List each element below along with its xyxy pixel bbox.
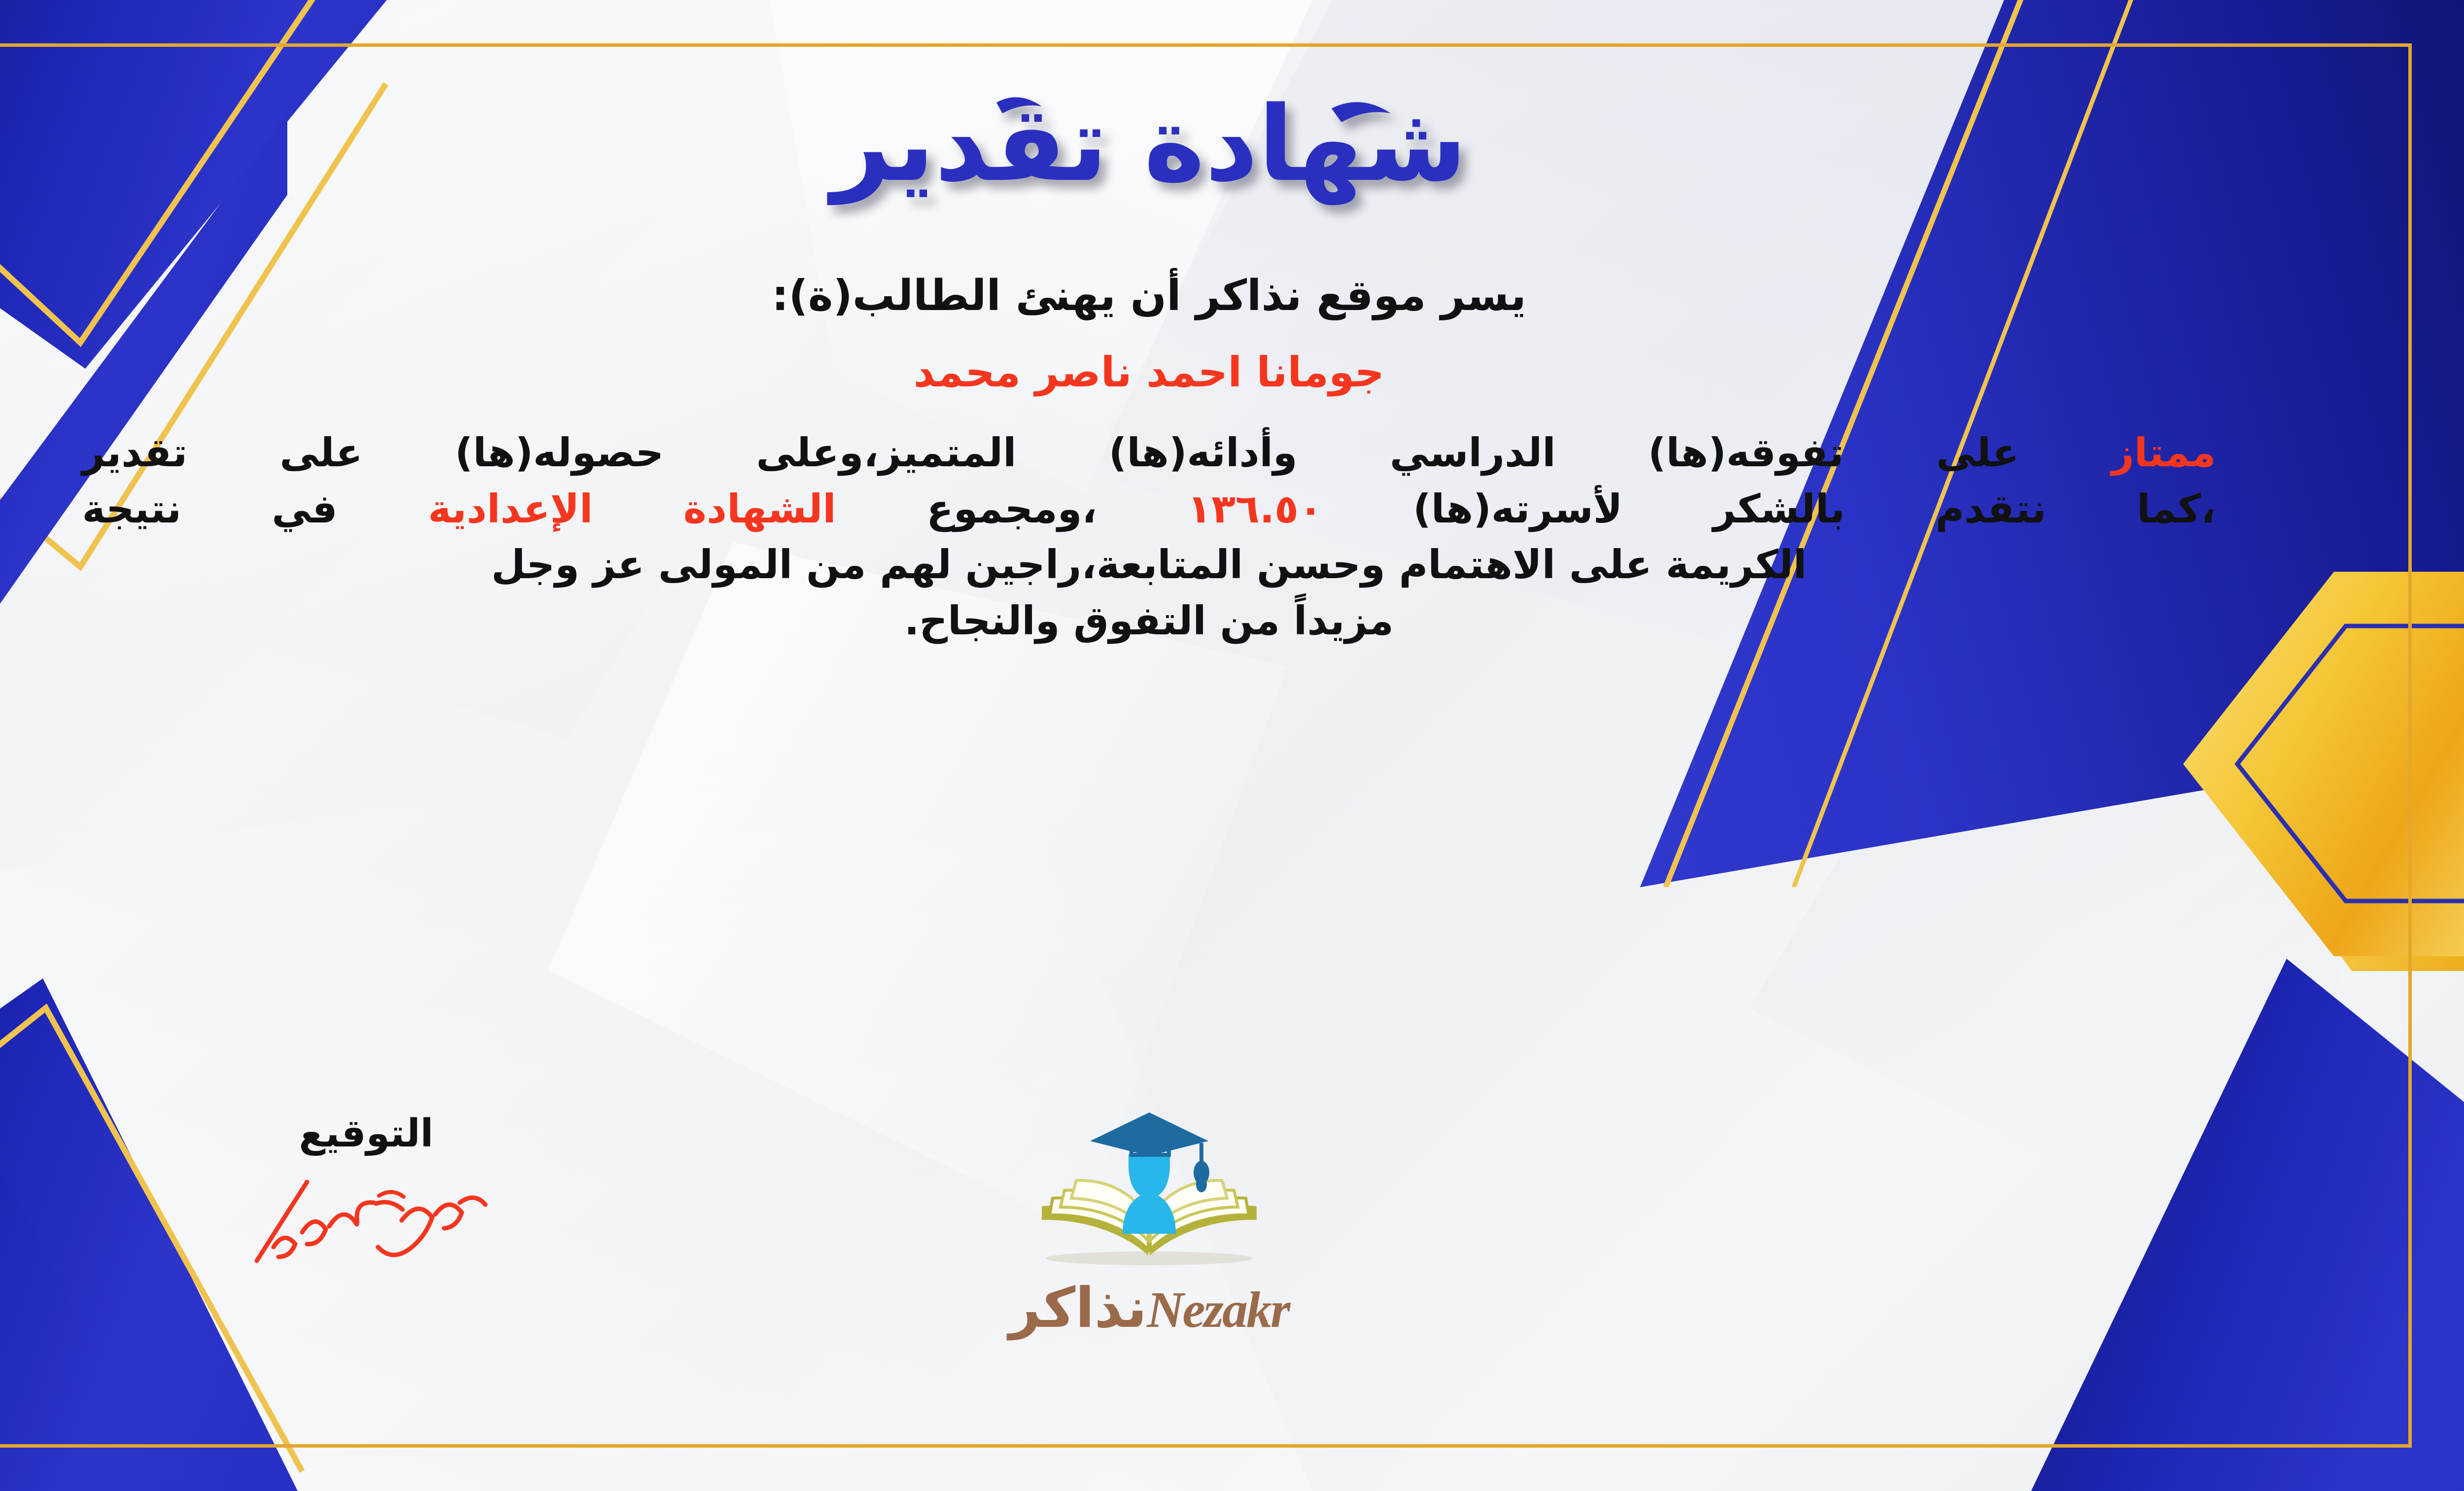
body-line-2: ،كما نتقدم بالشكر لأسرته(ها) ١٣٦.٥٠ ،ومج… <box>82 481 2216 537</box>
signature-mark <box>179 1171 553 1274</box>
certificate-title: شهادة تقدير <box>681 74 1617 222</box>
body-line-1-text: على تفوقه(ها) الدراسي وأدائه(ها) المتميز… <box>82 430 2019 476</box>
total-score: ١٣٦.٥٠ <box>1187 486 1323 532</box>
grade-value: ممتاز <box>2112 430 2216 476</box>
certificate-title-calligraphy: شهادة تقدير <box>681 79 1617 217</box>
body-line-4: مزيداً من التفوق والنجاح. <box>82 593 2216 649</box>
logo-latin-text: Nezakr <box>1147 1281 1289 1339</box>
graduate-book-logo-icon <box>1011 1102 1287 1279</box>
certificate-footer: التوقيع <box>0 1111 2464 1417</box>
greeting-line: يسر موقع نذاكر أن يهنئ الطالب(ة): <box>772 271 1526 320</box>
logo-wordmark: Nezakr نذاكر <box>1009 1276 1289 1340</box>
certificate-canvas: شهادة تقدير يسر موقع نذاكر أن يهنئ الطال… <box>0 0 2464 1491</box>
certificate-content: شهادة تقدير يسر موقع نذاكر أن يهنئ الطال… <box>0 0 2464 1491</box>
site-logo: Nezakr نذاكر <box>962 1102 1336 1340</box>
body-line-2-suffix: ،كما نتقدم بالشكر لأسرته(ها) <box>1413 486 2216 532</box>
certificate-body: ممتاز على تفوقه(ها) الدراسي وأدائه(ها) ا… <box>82 425 2216 649</box>
body-line-3: الكريمة على الاهتمام وحسن المتابعة،راجين… <box>82 537 2216 593</box>
signature-label: التوقيع <box>179 1111 553 1156</box>
handwritten-signature-icon <box>228 1173 504 1272</box>
signature-block: التوقيع <box>179 1111 553 1274</box>
student-name: جومانا احمد ناصر محمد <box>914 348 1385 396</box>
exam-name: الشهادة الإعدادية <box>428 486 836 532</box>
title-glyphs: شهادة تقدير <box>827 84 1467 206</box>
logo-arabic-text: نذاكر <box>1009 1276 1147 1340</box>
body-line-1: ممتاز على تفوقه(ها) الدراسي وأدائه(ها) ا… <box>82 425 2216 481</box>
body-line-2-prefix: في نتيجة <box>82 486 338 532</box>
body-line-2-mid: ،ومجموع <box>926 486 1097 532</box>
